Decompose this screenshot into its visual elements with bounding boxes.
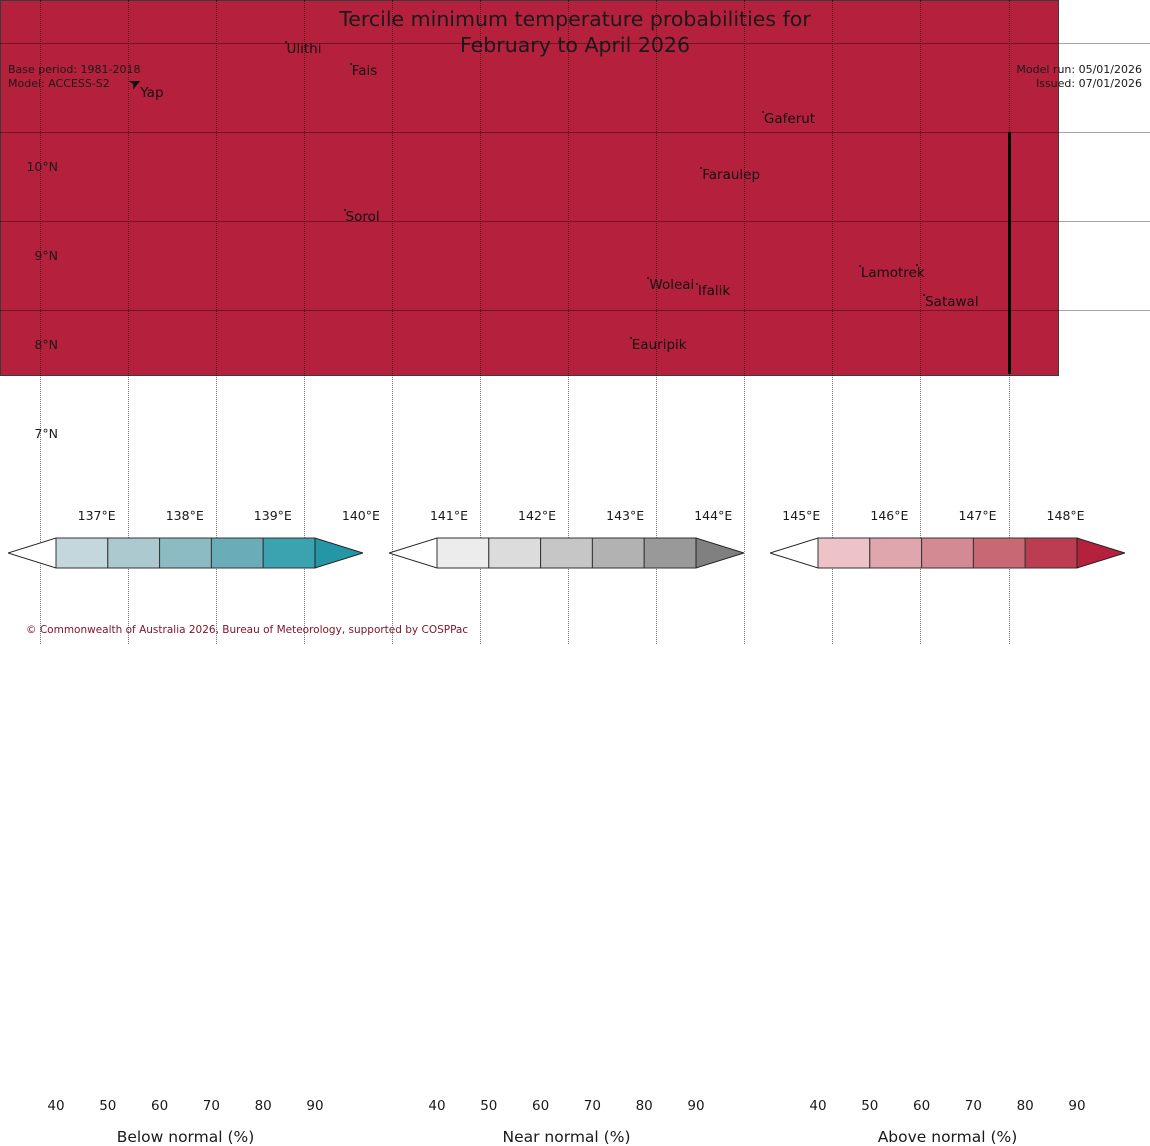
colorbar-tick-label: 90 — [306, 1098, 323, 1114]
x-axis-tick-label: 142°E — [518, 508, 556, 523]
colorbar-tick-label: 60 — [913, 1098, 930, 1114]
gridline-vertical — [392, 0, 394, 376]
gridline-vertical — [568, 0, 570, 376]
colorbar-tick-label: 60 — [532, 1098, 549, 1114]
colorbar-tick-label: 50 — [861, 1098, 878, 1114]
gridline-horizontal — [0, 132, 1059, 133]
issued-text: Issued: 07/01/2026 — [1016, 77, 1142, 91]
x-axis-tick-label: 144°E — [694, 508, 732, 523]
colorbar-above-normal[interactable]: 405060708090Above normal (%) — [770, 536, 1125, 636]
gridline-horizontal — [0, 221, 1059, 222]
gridline-vertical — [920, 0, 922, 376]
map-place-label: Gaferut — [764, 113, 815, 127]
x-axis-tick-label: 140°E — [342, 508, 380, 523]
base-period-text: Base period: 1981-2018 — [8, 63, 140, 77]
y-axis-tick-label: 9°N — [8, 248, 58, 263]
header-meta-left: Base period: 1981-2018 Model: ACCESS-S2 — [8, 63, 140, 91]
island-marker-dot — [916, 264, 918, 266]
colorbar-swatches — [389, 536, 744, 570]
colorbar-title: Below normal (%) — [8, 1128, 363, 1146]
colorbar-tick-label: 50 — [480, 1098, 497, 1114]
colorbar-swatches — [770, 536, 1125, 570]
x-axis-tick-label: 137°E — [78, 508, 116, 523]
y-axis-tick-label: 7°N — [8, 426, 58, 441]
colorbar-tick-label: 40 — [428, 1098, 445, 1114]
colorbar-tick-label: 90 — [687, 1098, 704, 1114]
x-axis-tick-label: 148°E — [1047, 508, 1085, 523]
map-place-label: Faraulep — [702, 169, 760, 183]
map-place-label: Eauripik — [632, 339, 687, 353]
colorbar-tick-label: 90 — [1068, 1098, 1085, 1114]
colorbar-tick-label: 70 — [584, 1098, 601, 1114]
map-place-label: Yap — [140, 87, 163, 101]
x-axis-tick-label: 141°E — [430, 508, 468, 523]
map-place-label: Ulithi — [287, 43, 322, 57]
y-axis-tick-label: 10°N — [8, 159, 58, 174]
colorbar-tick-label: 40 — [47, 1098, 64, 1114]
x-axis-tick-label: 146°E — [870, 508, 908, 523]
x-axis-tick-label: 145°E — [782, 508, 820, 523]
colorbar-swatches — [8, 536, 363, 570]
map-place-label: Ifalik — [698, 285, 730, 299]
map-place-label: Woleai — [649, 279, 694, 293]
colorbar-near-normal[interactable]: 405060708090Near normal (%) — [389, 536, 744, 636]
gridline-vertical — [128, 0, 130, 376]
map-place-label: Sorol — [346, 211, 380, 225]
colorbar-title: Near normal (%) — [389, 1128, 744, 1146]
map-place-label: Fais — [352, 65, 378, 79]
meridian-line-148e — [1008, 132, 1011, 374]
model-run-text: Model run: 05/01/2026 — [1016, 63, 1142, 77]
colorbar-tick-label: 80 — [636, 1098, 653, 1114]
x-axis-tick-label: 147°E — [958, 508, 996, 523]
colorbar-tick-label: 70 — [203, 1098, 220, 1114]
colorbar-tick-label: 70 — [965, 1098, 982, 1114]
colorbar-tick-label: 80 — [1017, 1098, 1034, 1114]
x-axis-tick-label: 138°E — [166, 508, 204, 523]
header-meta-right: Model run: 05/01/2026 Issued: 07/01/2026 — [1016, 63, 1142, 91]
map-place-label: Lamotrek — [861, 267, 925, 281]
page-title: Tercile minimum temperature probabilitie… — [0, 6, 1150, 58]
gridline-vertical — [40, 0, 42, 376]
map-place-label: Satawal — [925, 296, 978, 310]
model-text: Model: ACCESS-S2 — [8, 77, 140, 91]
gridline-vertical — [832, 0, 834, 376]
colorbar-tick-label: 60 — [151, 1098, 168, 1114]
gridline-horizontal — [0, 43, 1059, 44]
y-axis-tick-label: 8°N — [8, 337, 58, 352]
colorbar-tick-label: 40 — [809, 1098, 826, 1114]
x-axis-tick-label: 143°E — [606, 508, 644, 523]
colorbar-below-normal[interactable]: 405060708090Below normal (%) — [8, 536, 363, 636]
colorbar-tick-label: 80 — [255, 1098, 272, 1114]
colorbar-title: Above normal (%) — [770, 1128, 1125, 1146]
gridline-vertical — [216, 0, 218, 376]
gridline-vertical — [656, 0, 658, 376]
gridline-horizontal — [0, 310, 1059, 311]
colorbar-tick-label: 50 — [99, 1098, 116, 1114]
gridline-vertical — [480, 0, 482, 376]
x-axis-tick-label: 139°E — [254, 508, 292, 523]
gridline-vertical — [744, 0, 746, 376]
